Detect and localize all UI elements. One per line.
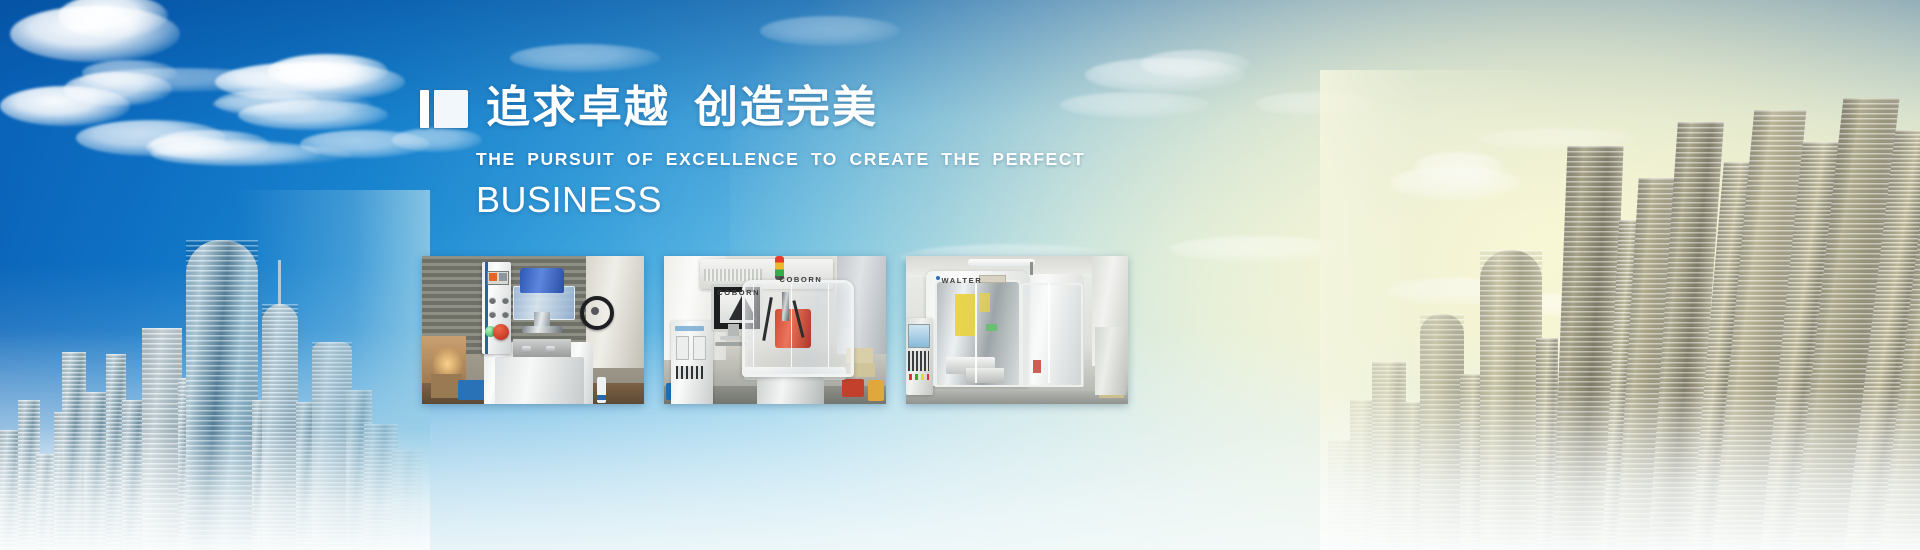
machine-photo-strip: COBORN COBORN: [422, 256, 1128, 404]
page-title: 追求卓越创造完美: [486, 86, 878, 130]
headline-phrase-2: 创造完美: [694, 82, 878, 133]
photo-edm-machine[interactable]: [422, 256, 644, 404]
walter-brand-label: WALTER: [942, 276, 983, 285]
headline-phrase-1: 追求卓越: [486, 82, 670, 133]
logo-page-icon: [434, 90, 468, 128]
coborn-controller-brand-label: COBORN: [717, 288, 760, 297]
photo-coborn-machine[interactable]: COBORN COBORN: [664, 256, 886, 404]
logo-bar-icon: [420, 90, 429, 128]
coborn-brand-label: COBORN: [779, 275, 822, 284]
banner-copy-block: 追求卓越创造完美 THE PURSUIT OF EXCELLENCE TO CR…: [420, 86, 1100, 221]
walter-logo-dot-icon: [936, 276, 940, 280]
hero-banner: 追求卓越创造完美 THE PURSUIT OF EXCELLENCE TO CR…: [0, 0, 1920, 550]
business-word: BUSINESS: [476, 179, 1100, 221]
photo-walter-machine[interactable]: WALTER: [906, 256, 1128, 404]
headline-row: 追求卓越创造完美: [420, 86, 1100, 130]
book-logo-mark-icon: [420, 90, 468, 128]
sub-headline: THE PURSUIT OF EXCELLENCE TO CREATE THE …: [476, 149, 1100, 170]
walter-spec-badge: [979, 275, 1005, 283]
